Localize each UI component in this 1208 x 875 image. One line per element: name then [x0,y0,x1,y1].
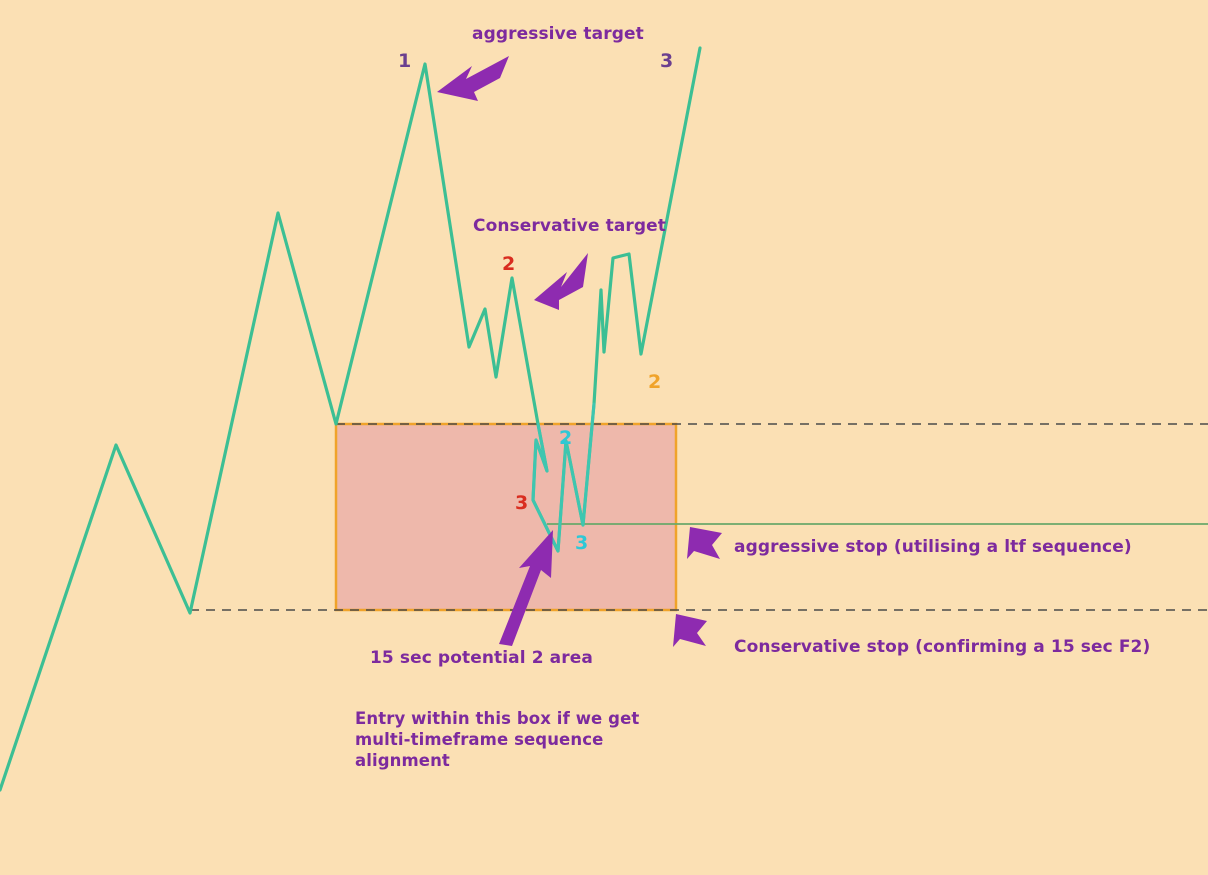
annotation-conservative-target: Conservative target [473,216,666,238]
wave-2-orange-label: 2 [648,373,661,392]
wave-3-top-label: 3 [660,52,673,71]
chart-canvas: aggressive target Conservative target ag… [0,0,1208,875]
annotation-aggressive-target: aggressive target [472,24,644,46]
annotation-entry-note: Entry within this box if we get multi-ti… [355,708,639,771]
annotation-conservative-stop: Conservative stop (confirming a 15 sec F… [734,637,1150,659]
wave-2-red-label: 2 [502,255,515,274]
aggressive-stop-arrow [687,527,722,559]
conservative-target-arrow [534,253,588,310]
annotation-aggressive-stop: aggressive stop (utilising a ltf sequenc… [734,537,1132,559]
wave-3-cyan-label: 3 [575,534,588,553]
annotation-potential-2-area: 15 sec potential 2 area [370,648,593,670]
entry-box-zone[interactable] [336,424,676,610]
conservative-stop-arrow [673,614,707,647]
aggressive-target-arrow [437,56,509,101]
wave-3-red-label: 3 [515,494,528,513]
wave-1-label: 1 [398,52,411,71]
wave-2-cyan-label: 2 [559,429,572,448]
price-path-line [0,48,700,790]
